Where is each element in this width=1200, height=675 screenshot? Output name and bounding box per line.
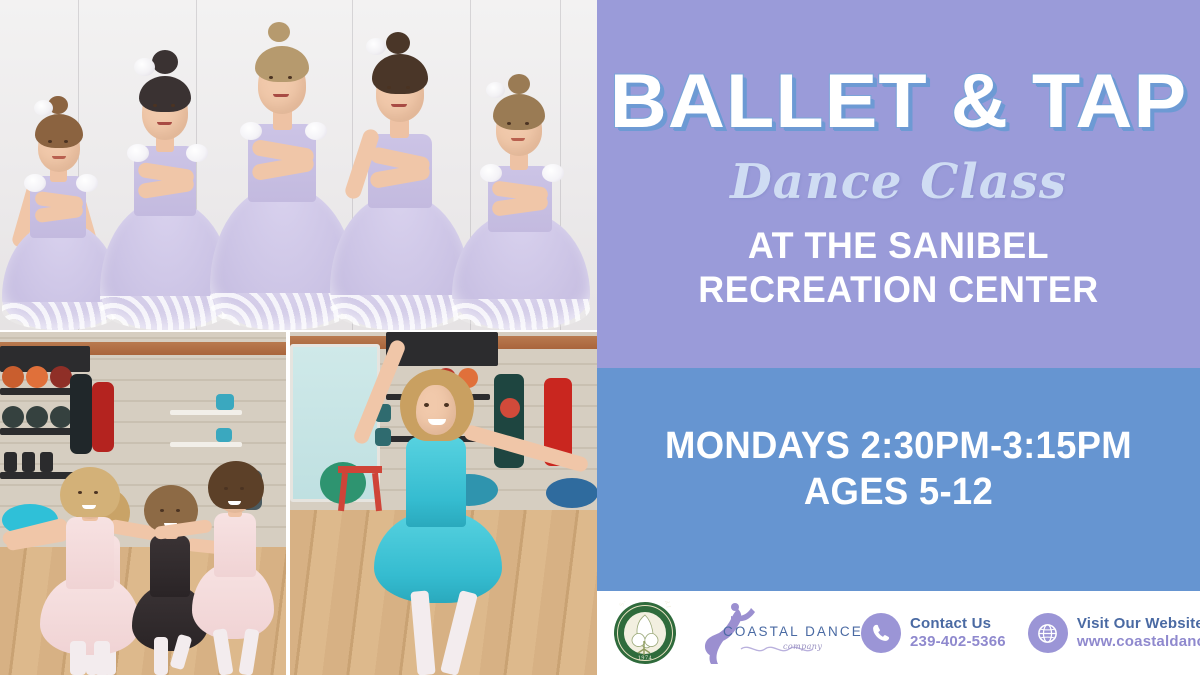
subtitle-script: Dance Class [597,158,1200,206]
coastal-dance-sub-wordmark: company [783,642,822,651]
footer-bar: SANIBEL FLORIDA 1974 COASTAL DANCE [597,591,1200,675]
schedule-line-1: MONDAYS 2:30PM-3:15PM [609,424,1188,470]
contact-website-label: Visit Our Website [1077,615,1200,633]
photo-group-ballerinas-lavender [0,0,597,330]
photo-solo-girl-teal-dress [290,332,597,675]
contact-phone-number[interactable]: 239-402-5366 [910,633,1006,651]
photo-column [0,0,597,675]
contact-website-block[interactable]: Visit Our Website www.coastaldance.co [1028,613,1200,653]
seal-year-text: 1974 [638,656,652,662]
phone-icon [861,613,901,653]
venue-block: AT THE SANIBEL RECREATION CENTER [606,224,1191,311]
globe-icon [1028,613,1068,653]
schedule-line-2: AGES 5-12 [609,470,1188,516]
sanibel-florida-seal: SANIBEL FLORIDA 1974 [613,601,677,665]
venue-line-1: AT THE SANIBEL [606,224,1191,268]
schedule-block: MONDAYS 2:30PM-3:15PM AGES 5-12 [609,424,1188,515]
coastal-dance-wordmark: COASTAL DANCE [723,624,863,639]
coastal-dance-company-logo: COASTAL DANCE company [691,602,839,664]
page-title: BALLET & TAP [585,66,1200,138]
contact-phone-block[interactable]: Contact Us 239-402-5366 [861,613,1006,653]
contact-website-url[interactable]: www.coastaldance.co [1077,633,1200,651]
venue-line-2: RECREATION CENTER [606,268,1191,312]
photo-four-girls-studio-pose [0,332,286,675]
flyer-canvas: BALLET & TAP Dance Class AT THE SANIBEL … [0,0,1200,675]
contact-phone-label: Contact Us [910,615,1006,633]
